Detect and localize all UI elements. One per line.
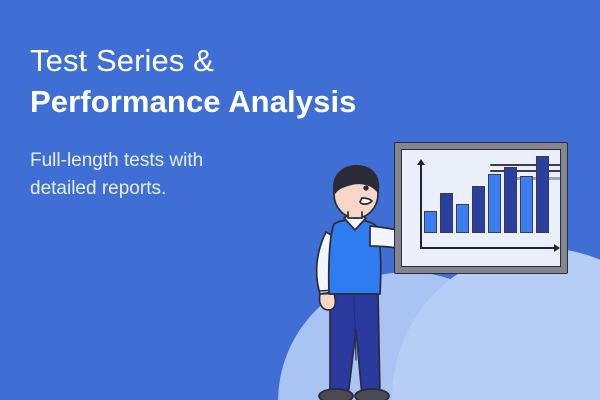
chart-x-axis	[420, 247, 554, 249]
mouth	[360, 198, 372, 204]
chart-y-axis	[420, 164, 422, 248]
chart-bar	[520, 176, 533, 233]
title-line-1: Test Series &	[30, 42, 330, 80]
whiteboard	[394, 142, 568, 274]
eye	[364, 186, 368, 190]
subtitle: Full-length tests with detailed reports.	[30, 147, 245, 203]
chart-bar	[456, 204, 469, 233]
whiteboard-surface	[401, 149, 561, 267]
chart-bar	[440, 193, 453, 233]
chart-bar	[472, 186, 485, 233]
chart-bar	[536, 156, 549, 233]
title-line-2: Performance Analysis	[30, 82, 330, 122]
headline-block: Test Series & Performance Analysis Full-…	[30, 42, 330, 203]
promo-banner: Test Series & Performance Analysis Full-…	[0, 0, 600, 400]
bar-chart	[424, 149, 558, 233]
hand-left	[319, 293, 335, 310]
shoe-right	[355, 389, 389, 400]
neck	[348, 212, 362, 218]
chart-bar	[488, 174, 501, 233]
shoe-left	[319, 389, 353, 400]
chart-bar	[424, 211, 437, 233]
chart-bar	[504, 167, 517, 233]
